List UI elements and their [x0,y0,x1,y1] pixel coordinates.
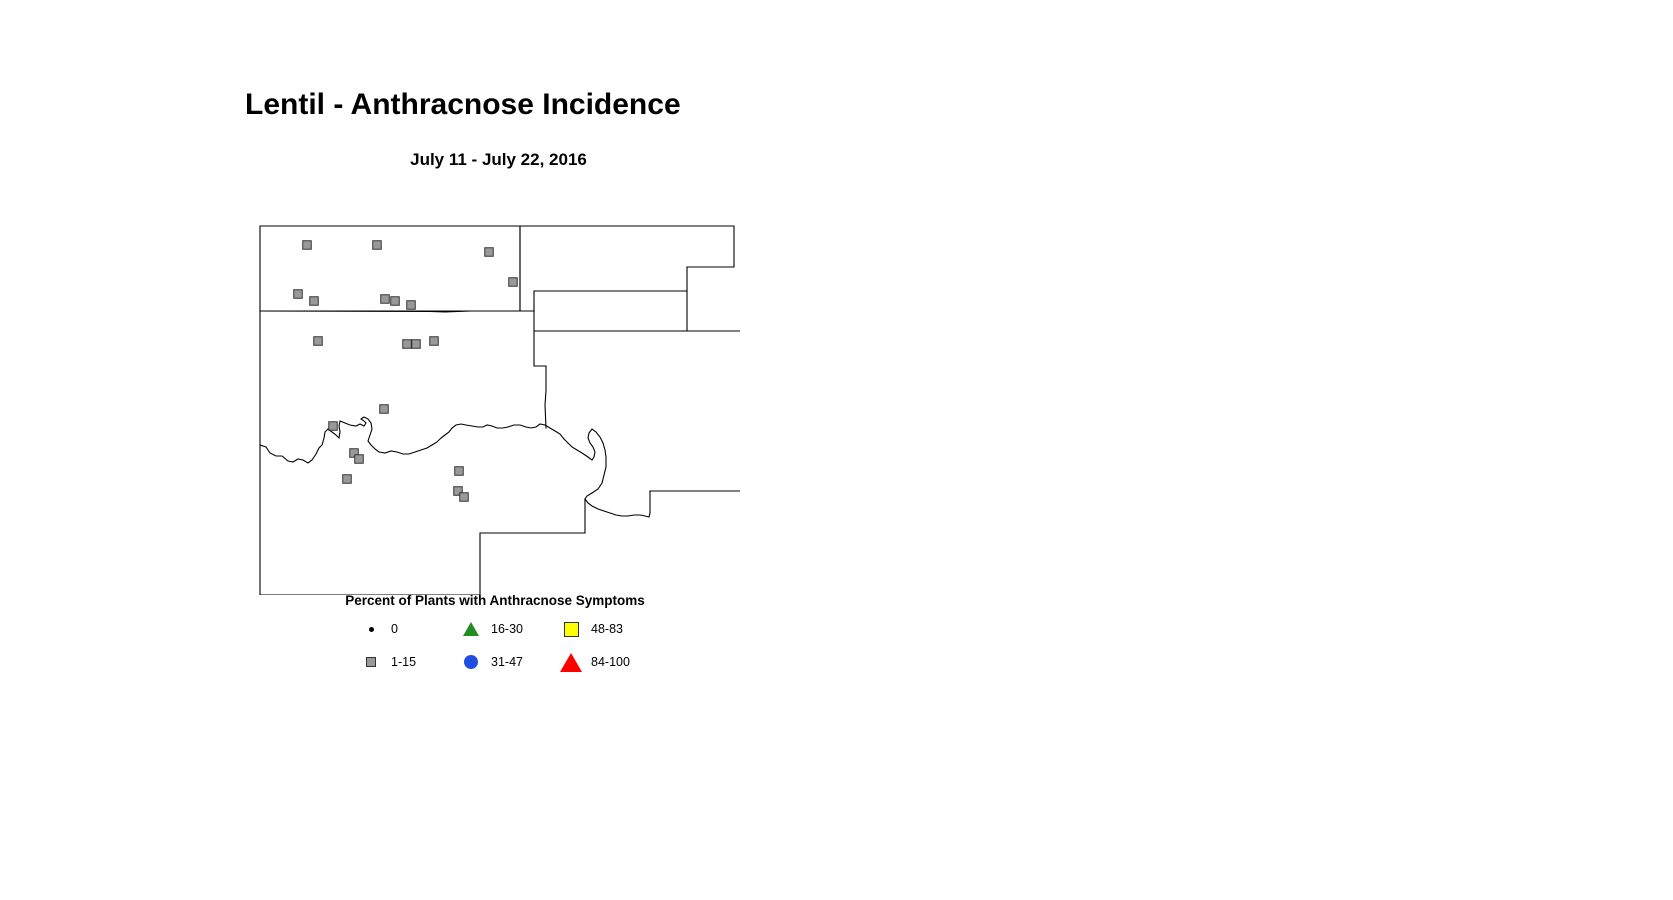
legend-item-label: 31-47 [491,655,523,669]
map-marker [303,241,312,250]
boundary-northeast-block [520,226,734,311]
red-triangle-icon [558,651,584,673]
map-marker [294,290,303,299]
date-range-subtitle: July 11 - July 22, 2016 [245,150,752,170]
map-marker [355,455,364,464]
map-marker [460,493,469,502]
green-triangle-icon [458,618,484,640]
map-marker [509,278,518,287]
legend-item-label: 48-83 [591,622,623,636]
legend-item[interactable]: 31-47 [458,651,523,673]
blue-circle-glyph [464,655,478,669]
map-marker [391,297,400,306]
map-marker [412,340,421,349]
map-marker [455,467,464,476]
legend-title: Percent of Plants with Anthracnose Sympt… [240,593,750,608]
legend-item[interactable]: 16-30 [458,618,523,640]
legend-item[interactable]: 1-15 [358,651,416,673]
legend-item[interactable]: 48-83 [558,618,623,640]
map-marker [380,405,389,414]
map-marker [381,295,390,304]
gray-square-glyph [366,657,376,667]
map-page: Lentil - Anthracnose Incidence July 11 -… [0,0,1673,900]
legend-item-label: 84-100 [591,655,630,669]
map-marker [485,248,494,257]
map-legend: Percent of Plants with Anthracnose Sympt… [240,588,750,683]
red-triangle-glyph [560,653,582,672]
blue-circle-icon [458,651,484,673]
legend-item[interactable]: 0 [358,618,398,640]
map-figure [240,195,740,595]
legend-item-label: 0 [391,622,398,636]
yellow-square-icon [558,618,584,640]
legend-item-label: 1-15 [391,655,416,669]
map-boundaries [260,226,740,595]
small-dot-icon [358,618,384,640]
yellow-square-glyph [564,622,579,637]
small-dot-glyph [369,627,374,632]
map-marker [403,340,412,349]
boundary-south-step [480,499,585,595]
green-triangle-glyph [463,622,479,636]
boundary-east-interior [534,331,546,428]
page-title: Lentil - Anthracnose Incidence [245,88,681,122]
map-marker [407,301,416,310]
map-marker [314,337,323,346]
boundary-tier-division [260,311,534,312]
map-marker [373,241,382,250]
boundary-river-southeast [585,491,650,517]
boundary-river-south [260,417,606,499]
map-marker [329,422,338,431]
map-marker [310,297,319,306]
legend-item[interactable]: 84-100 [558,651,630,673]
map-marker [343,475,352,484]
gray-square-icon [358,651,384,673]
legend-items: 01-1516-3031-4748-8384-100 [240,618,750,680]
map-marker [430,337,439,346]
legend-item-label: 16-30 [491,622,523,636]
map-marker-layer [294,241,518,502]
boundary-east-middle-block [534,291,687,331]
